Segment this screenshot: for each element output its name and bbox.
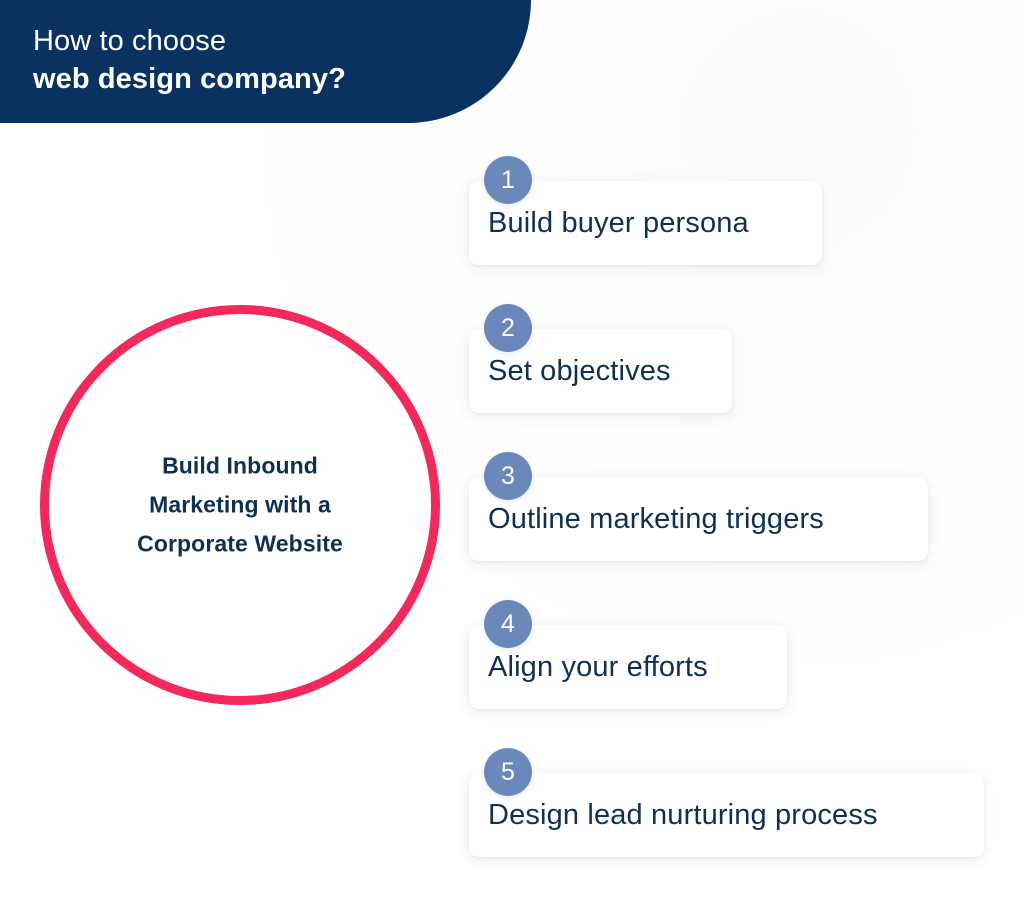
step-label-1: Build buyer persona bbox=[488, 207, 749, 240]
step-item-5: 5 Design lead nurturing process bbox=[469, 748, 1014, 832]
infographic-canvas: How to choose web design company? Build … bbox=[0, 0, 1024, 920]
central-circle: Build Inbound Marketing with a Corporate… bbox=[40, 305, 440, 705]
circle-title: Build Inbound Marketing with a Corporate… bbox=[90, 447, 390, 564]
circle-title-line-1: Build Inbound bbox=[90, 447, 390, 486]
header-title-line-1: How to choose bbox=[33, 22, 531, 60]
step-card-3[interactable]: Outline marketing triggers bbox=[469, 477, 928, 561]
header-title-line-2: web design company? bbox=[33, 60, 531, 98]
header-banner: How to choose web design company? bbox=[0, 0, 531, 123]
step-badge-2: 2 bbox=[484, 304, 532, 352]
circle-title-line-2: Marketing with a bbox=[90, 486, 390, 525]
step-badge-4: 4 bbox=[484, 600, 532, 648]
step-item-4: 4 Align your efforts bbox=[469, 600, 1014, 684]
step-label-5: Design lead nurturing process bbox=[488, 799, 878, 832]
circle-title-line-3: Corporate Website bbox=[90, 525, 390, 564]
step-badge-1: 1 bbox=[484, 156, 532, 204]
step-badge-5: 5 bbox=[484, 748, 532, 796]
step-label-2: Set objectives bbox=[488, 355, 671, 388]
step-item-1: 1 Build buyer persona bbox=[469, 156, 1014, 240]
step-list: 1 Build buyer persona 2 Set objectives 3… bbox=[469, 156, 1014, 832]
step-item-3: 3 Outline marketing triggers bbox=[469, 452, 1014, 536]
step-card-5[interactable]: Design lead nurturing process bbox=[469, 773, 984, 857]
step-badge-3: 3 bbox=[484, 452, 532, 500]
step-label-3: Outline marketing triggers bbox=[488, 503, 824, 536]
step-item-2: 2 Set objectives bbox=[469, 304, 1014, 388]
step-label-4: Align your efforts bbox=[488, 651, 708, 684]
